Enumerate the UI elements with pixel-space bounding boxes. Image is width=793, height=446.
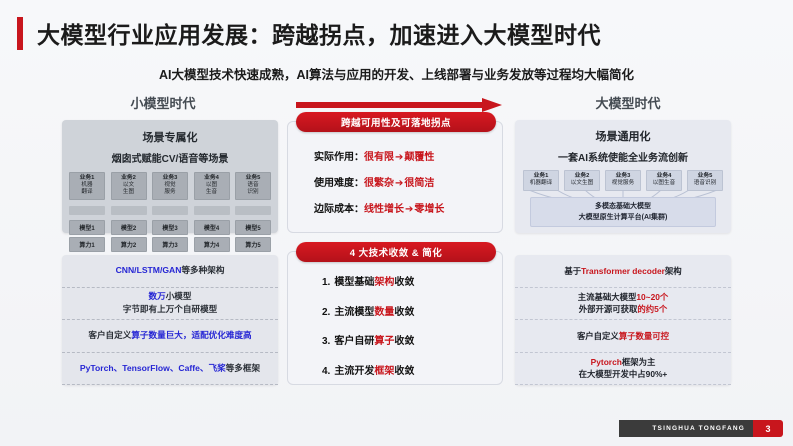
power-box: 算力5 [235, 237, 271, 252]
list-item-line2: 外部开源可获取的约5个 [579, 303, 667, 315]
list-item-line: 主流基础大模型10~20个 [578, 291, 669, 303]
left-top-panel: 场景专属化 烟囱式赋能CV/语音等场景 业务1机器翻译模型1算力1业务2以文生图… [62, 120, 278, 233]
slide-root: 大模型行业应用发展：跨越拐点，加速进入大模型时代 AI大模型技术快速成熟，AI算… [0, 0, 793, 446]
list-item: Pytorch框架为主在大模型开发中占90%+ [515, 353, 731, 386]
row-index: 3. [322, 336, 330, 347]
text-plain: 收敛 [394, 336, 414, 347]
model-box: 模型4 [194, 220, 230, 235]
text-highlight: 数万 [149, 291, 166, 301]
model-box: 模型5 [235, 220, 271, 235]
arrow-icon: ➔ [394, 178, 404, 189]
business-label: 业务2 [112, 175, 146, 182]
right-top-subtitle: 一套AI系统使能全业务流创新 [515, 149, 731, 164]
business-label: 业务4 [195, 175, 229, 182]
text-plain: 收敛 [394, 366, 414, 377]
business-desc: 机器 [70, 182, 104, 189]
text-plain: 客户自定义 [577, 331, 619, 341]
business-label: 业务4 [647, 173, 681, 180]
business-desc: 识别 [705, 180, 716, 186]
numbered-row: 3.客户自研算子收敛 [322, 332, 502, 347]
business-desc: 翻译 [70, 189, 104, 196]
business-box: 业务5语音识别 [235, 172, 271, 200]
numbered-row: 1.模型基础架构收敛 [322, 273, 502, 288]
kv-to: 很简洁 [404, 178, 434, 189]
text-plain: 等多种架构 [181, 265, 224, 275]
business-box: 业务1机器翻译 [69, 172, 105, 200]
text-plain: 主流开发 [334, 366, 374, 377]
business-desc: 翻译 [541, 180, 552, 186]
footer-brand-label: TSINGHUA TONGFANG [652, 425, 745, 432]
list-item: 数万小模型字节即有上万个自研模型 [62, 288, 278, 321]
text-plain: 小模型 [166, 291, 192, 301]
business-box: 业务3视觉服务 [605, 170, 641, 191]
text-plain: 收敛 [394, 277, 414, 288]
text-plain: 客户自定义 [88, 330, 131, 340]
text-highlight: CNN/LSTM/GAN [116, 265, 182, 275]
business-box: 业务2以文生图 [564, 170, 600, 191]
business-desc: 机器 [530, 180, 541, 186]
kv-key: 边际成本： [314, 204, 364, 215]
left-top-subtitle: 烟囱式赋能CV/语音等场景 [62, 150, 278, 165]
list-item-line: PyTorch、TensorFlow、Caffe、飞桨等多框架 [80, 362, 260, 375]
spacer-box [152, 206, 188, 215]
left-top-column: 业务3视觉服务模型3算力3 [152, 172, 188, 252]
page-subtitle: AI大模型技术快速成熟，AI算法与应用的开发、上线部署与业务发放等过程均大幅简化 [0, 64, 793, 83]
kv-row: 使用难度：很繁杂➔很简洁 [314, 174, 502, 189]
right-arrow-icon [296, 98, 502, 112]
text-plain: 等多框架 [226, 363, 260, 373]
left-top-columns: 业务1机器翻译模型1算力1业务2以文生图模型2算力2业务3视觉服务模型3算力3业… [62, 172, 278, 252]
business-desc: 生音 [195, 189, 229, 196]
business-desc: 生音 [664, 180, 675, 186]
right-bottom-panel: 基于Transformer decoder架构主流基础大模型10~20个外部开源… [515, 255, 731, 385]
business-desc: 以图 [195, 182, 229, 189]
right-top-panel: 场景通用化 一套AI系统使能全业务流创新 业务1机器翻译业务2以文生图业务3视觉… [515, 120, 731, 233]
era-label-right: 大模型时代 [513, 93, 743, 112]
base-model-box: 多模态基础大模型 大模型原生计算平台(AI集群) [530, 197, 716, 227]
kv-from: 线性增长 [364, 204, 404, 215]
row-index: 4. [322, 366, 330, 377]
kv-key: 实际作用： [314, 152, 364, 163]
kv-from: 很有限 [364, 152, 394, 163]
business-label: 业务5 [236, 175, 270, 182]
title-label: 大模型行业应用发展：跨越拐点，加速进入大模型时代 [37, 16, 601, 50]
model-box: 模型1 [69, 220, 105, 235]
right-top-columns: 业务1机器翻译业务2以文生图业务3视觉服务业务4以图生音业务5语音识别 [515, 170, 731, 191]
model-box: 模型3 [152, 220, 188, 235]
title-accent-bar [17, 17, 23, 50]
arrow-icon: ➔ [394, 152, 404, 163]
left-top-title: 场景专属化 [62, 129, 278, 145]
base-model-line1: 多模态基础大模型 [595, 201, 651, 212]
page-number-badge: 3 [753, 420, 783, 437]
business-label: 业务2 [565, 173, 599, 180]
spacer-box [235, 206, 271, 215]
kv-from: 很繁杂 [364, 178, 394, 189]
list-item-line: 数万小模型 [149, 290, 192, 303]
list-item-line2: 字节即有上万个自研模型 [123, 303, 218, 316]
kv-key: 使用难度： [314, 178, 364, 189]
list-item-line: 客户自定义算子数量可控 [577, 330, 669, 342]
model-box: 模型2 [111, 220, 147, 235]
era-label-left: 小模型时代 [48, 93, 278, 112]
business-desc: 以图 [653, 180, 664, 186]
business-desc: 语音 [694, 180, 705, 186]
list-item-line2: 在大模型开发中占90%+ [579, 368, 668, 380]
list-item-line: 客户自定义算子数量巨大，适配优化难度高 [88, 329, 251, 342]
text-plain: 框架为主 [622, 357, 656, 367]
business-box: 业务4以图生音 [646, 170, 682, 191]
business-box: 业务5语音识别 [687, 170, 723, 191]
row-index: 1. [322, 277, 330, 288]
row-index: 2. [322, 307, 330, 318]
business-desc: 语音 [236, 182, 270, 189]
text-highlight: 架构 [374, 277, 394, 288]
text-plain: 模型基础 [334, 277, 374, 288]
business-label: 业务1 [70, 175, 104, 182]
business-desc: 生图 [582, 180, 593, 186]
left-top-column: 业务5语音识别模型5算力5 [235, 172, 271, 252]
kv-row: 边际成本：线性增长➔零增长 [314, 200, 502, 215]
business-label: 业务1 [524, 173, 558, 180]
text-highlight: 算子数量可控 [619, 331, 669, 341]
text-highlight: 的约5个 [637, 304, 667, 314]
right-top-title: 场景通用化 [515, 128, 731, 144]
left-top-column: 业务2以文生图模型2算力2 [111, 172, 147, 252]
text-plain: 架构 [665, 266, 682, 276]
power-box: 算力2 [111, 237, 147, 252]
business-box: 业务1机器翻译 [523, 170, 559, 191]
left-top-column: 业务4以图生音模型4算力4 [194, 172, 230, 252]
business-label: 业务3 [153, 175, 187, 182]
business-desc: 生图 [112, 189, 146, 196]
text-highlight: PyTorch、TensorFlow、Caffe、飞桨 [80, 363, 226, 373]
business-desc: 服务 [623, 180, 634, 186]
business-desc: 以文 [571, 180, 582, 186]
mid-top-panel: 跨越可用性及可落地拐点 实际作用：很有限➔颠覆性使用难度：很繁杂➔很简洁边际成本… [287, 121, 503, 233]
power-box: 算力1 [69, 237, 105, 252]
spacer-box [111, 206, 147, 215]
left-bottom-panel: CNN/LSTM/GAN等多种架构数万小模型字节即有上万个自研模型客户自定义算子… [62, 255, 278, 385]
list-item-line: Pytorch框架为主 [591, 356, 656, 368]
list-item: PyTorch、TensorFlow、Caffe、飞桨等多框架 [62, 353, 278, 386]
list-item-line: 基于Transformer decoder架构 [564, 265, 681, 277]
mid-top-ribbon: 跨越可用性及可落地拐点 [296, 112, 496, 132]
arrow-line [296, 102, 484, 108]
numbered-row: 4.主流开发框架收敛 [322, 362, 502, 377]
text-plain: 外部开源可获取 [579, 304, 638, 314]
left-top-column: 业务1机器翻译模型1算力1 [69, 172, 105, 252]
text-plain: 收敛 [394, 307, 414, 318]
kv-to: 颠覆性 [404, 152, 434, 163]
spacer-box [194, 206, 230, 215]
text-highlight: 算子数量巨大，适配优化难度高 [131, 330, 251, 340]
business-box: 业务4以图生音 [194, 172, 230, 200]
business-desc: 视觉 [612, 180, 623, 186]
list-item: 基于Transformer decoder架构 [515, 255, 731, 288]
business-desc: 以文 [112, 182, 146, 189]
footer-brand-bar: TSINGHUA TONGFANG [619, 420, 755, 437]
text-highlight: Transformer decoder [581, 266, 665, 276]
business-label: 业务3 [606, 173, 640, 180]
text-highlight: 框架 [374, 366, 394, 377]
power-box: 算力3 [152, 237, 188, 252]
arrow-icon: ➔ [404, 204, 414, 215]
text-highlight: 10~20个 [636, 292, 668, 302]
text-plain: 主流模型 [334, 307, 374, 318]
text-highlight: 数量 [374, 307, 394, 318]
text-highlight: Pytorch [591, 357, 622, 367]
kv-row: 实际作用：很有限➔颠覆性 [314, 148, 502, 163]
list-item: 主流基础大模型10~20个外部开源可获取的约5个 [515, 288, 731, 321]
text-plain: 主流基础大模型 [578, 292, 637, 302]
mid-bottom-ribbon: 4 大技术收敛 & 简化 [296, 242, 496, 262]
list-item: 客户自定义算子数量巨大，适配优化难度高 [62, 320, 278, 353]
business-label: 业务5 [688, 173, 722, 180]
text-plain: 基于 [564, 266, 581, 276]
kv-to: 零增长 [414, 204, 444, 215]
business-desc: 识别 [236, 189, 270, 196]
mid-top-rows: 实际作用：很有限➔颠覆性使用难度：很繁杂➔很简洁边际成本：线性增长➔零增长 [288, 148, 502, 215]
arrow-head [482, 98, 502, 112]
business-desc: 服务 [153, 189, 187, 196]
text-highlight: 算子 [374, 336, 394, 347]
page-title: 大模型行业应用发展：跨越拐点，加速进入大模型时代 [17, 16, 601, 50]
spacer-box [69, 206, 105, 215]
business-box: 业务3视觉服务 [152, 172, 188, 200]
list-item: CNN/LSTM/GAN等多种架构 [62, 255, 278, 288]
business-desc: 视觉 [153, 182, 187, 189]
list-item-line: CNN/LSTM/GAN等多种架构 [116, 264, 225, 277]
business-box: 业务2以文生图 [111, 172, 147, 200]
mid-bottom-panel: 4 大技术收敛 & 简化 1.模型基础架构收敛2.主流模型数量收敛3.客户自研算… [287, 251, 503, 385]
numbered-row: 2.主流模型数量收敛 [322, 303, 502, 318]
base-model-line2: 大模型原生计算平台(AI集群) [579, 212, 668, 223]
text-plain: 客户自研 [334, 336, 374, 347]
mid-bottom-rows: 1.模型基础架构收敛2.主流模型数量收敛3.客户自研算子收敛4.主流开发框架收敛 [288, 266, 502, 384]
power-box: 算力4 [194, 237, 230, 252]
list-item: 客户自定义算子数量可控 [515, 320, 731, 353]
